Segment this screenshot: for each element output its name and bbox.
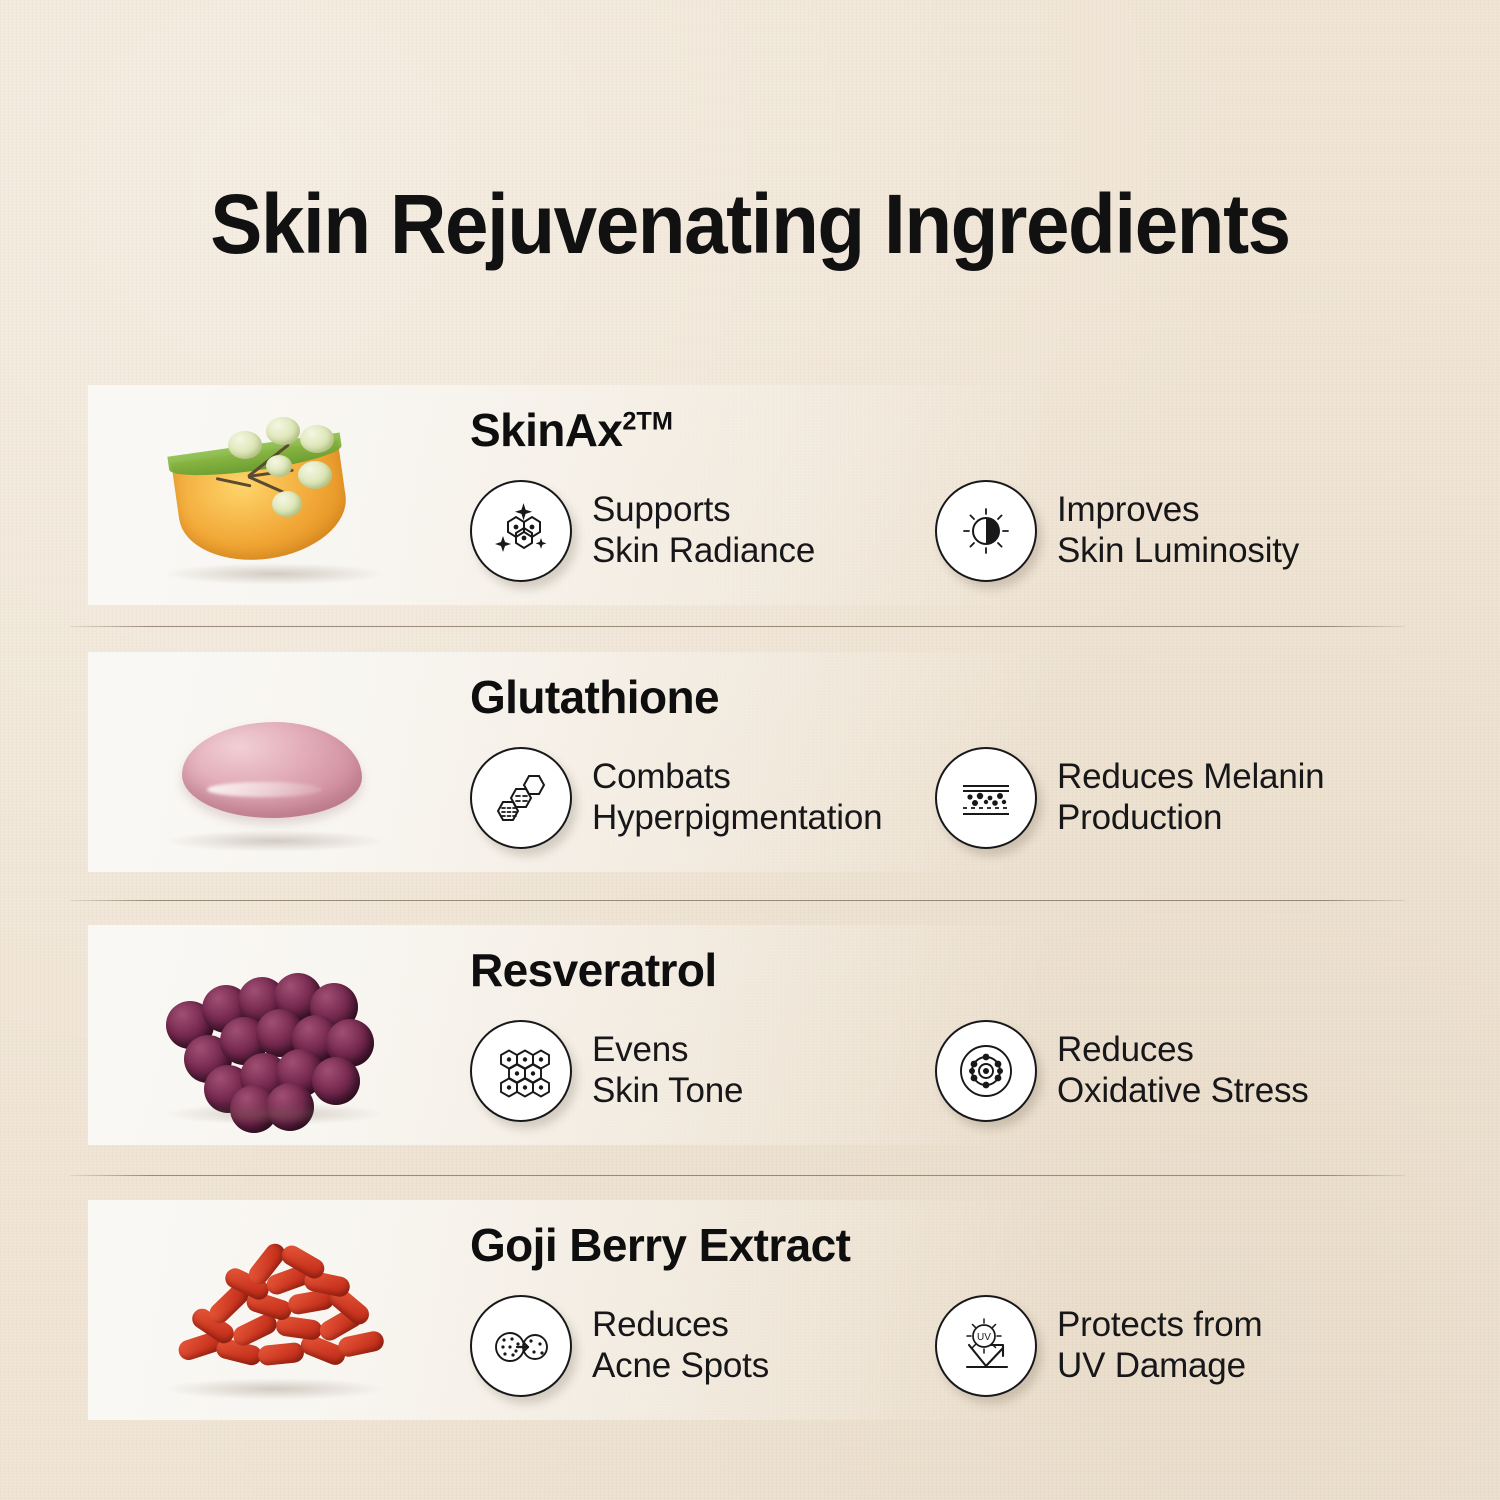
svg-text:UV: UV bbox=[977, 1332, 991, 1343]
grape bbox=[312, 1057, 360, 1105]
benefit-label: Evens Skin Tone bbox=[592, 1030, 743, 1111]
benefit-item: Evens Skin Tone bbox=[470, 1020, 743, 1122]
skinax-melon-grapes-photo bbox=[120, 403, 430, 591]
benefit-item: Reduces Acne Spots bbox=[470, 1295, 769, 1397]
benefit-item: Improves Skin Luminosity bbox=[935, 480, 1299, 582]
photo-drop-shadow bbox=[163, 830, 386, 852]
benefit-line-1: Reduces bbox=[1057, 1030, 1309, 1071]
benefit-item: UV bbox=[935, 1295, 1263, 1397]
gel-drop-shape bbox=[182, 722, 362, 818]
benefit-label: Reduces Melanin Production bbox=[1057, 757, 1324, 838]
photo-drop-shadow bbox=[163, 563, 386, 585]
uv-shield-deflection-icon: UV bbox=[935, 1295, 1037, 1397]
benefit-line-2: Acne Spots bbox=[592, 1346, 769, 1387]
resveratrol-grapes-photo bbox=[120, 943, 430, 1131]
melon-slice-shape bbox=[171, 440, 352, 570]
benefit-line-1: Combats bbox=[592, 757, 882, 798]
white-grape bbox=[266, 455, 292, 477]
benefit-line-2: Skin Radiance bbox=[592, 531, 815, 572]
row-divider bbox=[70, 900, 1405, 901]
white-grape bbox=[266, 417, 300, 445]
benefit-line-2: Skin Luminosity bbox=[1057, 531, 1299, 572]
benefit-line-1: Improves bbox=[1057, 490, 1299, 531]
row-divider bbox=[70, 626, 1405, 627]
benefit-label: Improves Skin Luminosity bbox=[1057, 490, 1299, 571]
benefit-line-1: Evens bbox=[592, 1030, 743, 1071]
goji-berry bbox=[257, 1342, 305, 1367]
goji-berry-photo bbox=[120, 1218, 430, 1406]
benefit-item: Reduces Melanin Production bbox=[935, 747, 1324, 849]
benefit-line-2: Oxidative Stress bbox=[1057, 1071, 1309, 1112]
skin-layers-melanin-dots-icon bbox=[935, 747, 1037, 849]
benefit-line-2: Production bbox=[1057, 798, 1324, 839]
benefit-label: Reduces Oxidative Stress bbox=[1057, 1030, 1309, 1111]
benefit-label: Reduces Acne Spots bbox=[592, 1305, 769, 1386]
hexagons-pigment-gradient-icon bbox=[470, 747, 572, 849]
ingredient-name-goji: Goji Berry Extract bbox=[470, 1218, 850, 1272]
glutathione-gel-photo bbox=[120, 670, 430, 858]
photo-drop-shadow bbox=[163, 1103, 386, 1125]
benefit-line-1: Reduces Melanin bbox=[1057, 757, 1324, 798]
brightness-half-sun-icon bbox=[935, 480, 1037, 582]
ingredient-name-glutathione: Glutathione bbox=[470, 670, 719, 724]
ingredient-name-text: Resveratrol bbox=[470, 944, 717, 996]
benefit-line-1: Protects from bbox=[1057, 1305, 1263, 1346]
ingredient-name-resveratrol: Resveratrol bbox=[470, 943, 717, 997]
photo-drop-shadow bbox=[163, 1378, 386, 1400]
acne-spots-reduction-arrow-icon bbox=[470, 1295, 572, 1397]
benefit-line-1: Supports bbox=[592, 490, 815, 531]
white-grape bbox=[300, 425, 334, 453]
benefit-label: Protects from UV Damage bbox=[1057, 1305, 1263, 1386]
honeycomb-cells-icon bbox=[470, 1020, 572, 1122]
infographic-page: Skin Rejuvenating Ingredients SkinAx2TM bbox=[0, 0, 1500, 1500]
benefit-line-2: Skin Tone bbox=[592, 1071, 743, 1112]
benefit-line-2: UV Damage bbox=[1057, 1346, 1263, 1387]
atom-orbit-icon bbox=[935, 1020, 1037, 1122]
ingredient-name-text: SkinAx bbox=[470, 404, 622, 456]
benefit-item: Combats Hyperpigmentation bbox=[470, 747, 882, 849]
white-grape bbox=[272, 491, 302, 517]
page-title: Skin Rejuvenating Ingredients bbox=[53, 182, 1448, 266]
row-divider bbox=[70, 1175, 1405, 1176]
ingredient-name-text: Goji Berry Extract bbox=[470, 1219, 850, 1271]
benefit-line-1: Reduces bbox=[592, 1305, 769, 1346]
ingredient-name-text: Glutathione bbox=[470, 671, 719, 723]
benefit-line-2: Hyperpigmentation bbox=[592, 798, 882, 839]
benefit-label: Combats Hyperpigmentation bbox=[592, 757, 882, 838]
benefit-item: Reduces Oxidative Stress bbox=[935, 1020, 1309, 1122]
benefit-item: Supports Skin Radiance bbox=[470, 480, 815, 582]
hexagon-sparkle-icon bbox=[470, 480, 572, 582]
benefit-label: Supports Skin Radiance bbox=[592, 490, 815, 571]
white-grape bbox=[298, 461, 332, 489]
ingredient-name-superscript: 2TM bbox=[622, 408, 673, 436]
ingredient-name-skinax: SkinAx2TM bbox=[470, 403, 673, 457]
white-grape bbox=[228, 431, 262, 459]
